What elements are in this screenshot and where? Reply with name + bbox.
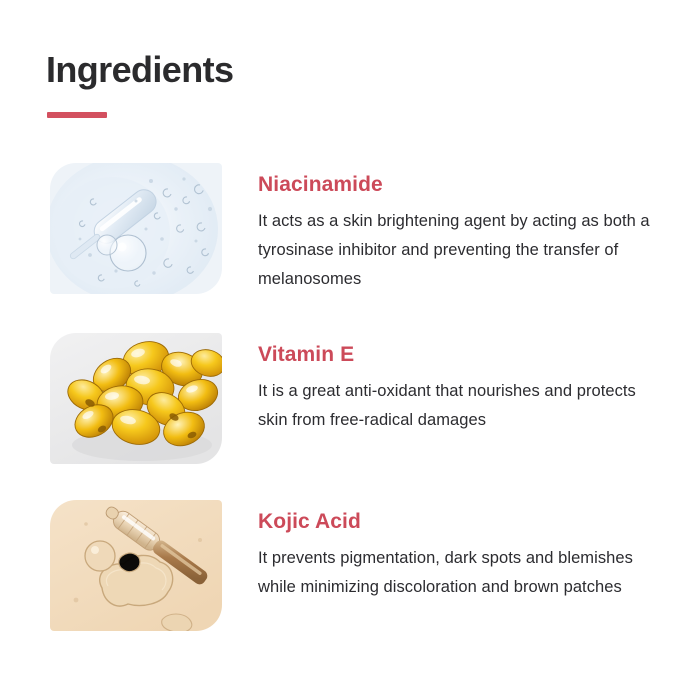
page-title: Ingredients: [46, 48, 233, 92]
ingredient-name: Vitamin E: [258, 341, 656, 368]
ingredient-item-kojic-acid: Kojic Acid It prevents pigmentation, dar…: [50, 500, 660, 631]
vitamin-e-softgel-capsules-photo: [50, 333, 222, 464]
ingredient-thumbnail-kojic-acid: [50, 500, 222, 631]
ingredient-thumbnail-vitamin-e: [50, 333, 222, 464]
ingredient-item-niacinamide: Niacinamide It acts as a skin brightenin…: [50, 163, 660, 294]
title-underline-rule: [47, 112, 107, 118]
ingredient-thumbnail-niacinamide: [50, 163, 222, 294]
kojic-acid-serum-beige-photo: [50, 500, 222, 631]
ingredient-description: It prevents pigmentation, dark spots and…: [258, 544, 656, 602]
serum-dropper-blue-photo: [50, 163, 222, 294]
ingredient-item-vitamin-e: Vitamin E It is a great anti-oxidant tha…: [50, 333, 660, 464]
ingredient-text-block: Vitamin E It is a great anti-oxidant tha…: [258, 333, 656, 435]
ingredient-name: Kojic Acid: [258, 508, 656, 535]
ingredient-text-block: Niacinamide It acts as a skin brightenin…: [258, 163, 656, 294]
ingredient-name: Niacinamide: [258, 171, 656, 198]
ingredients-page: Ingredients: [0, 0, 700, 700]
ingredient-description: It is a great anti-oxidant that nourishe…: [258, 377, 656, 435]
ingredient-description: It acts as a skin brightening agent by a…: [258, 207, 656, 294]
ingredient-text-block: Kojic Acid It prevents pigmentation, dar…: [258, 500, 656, 602]
